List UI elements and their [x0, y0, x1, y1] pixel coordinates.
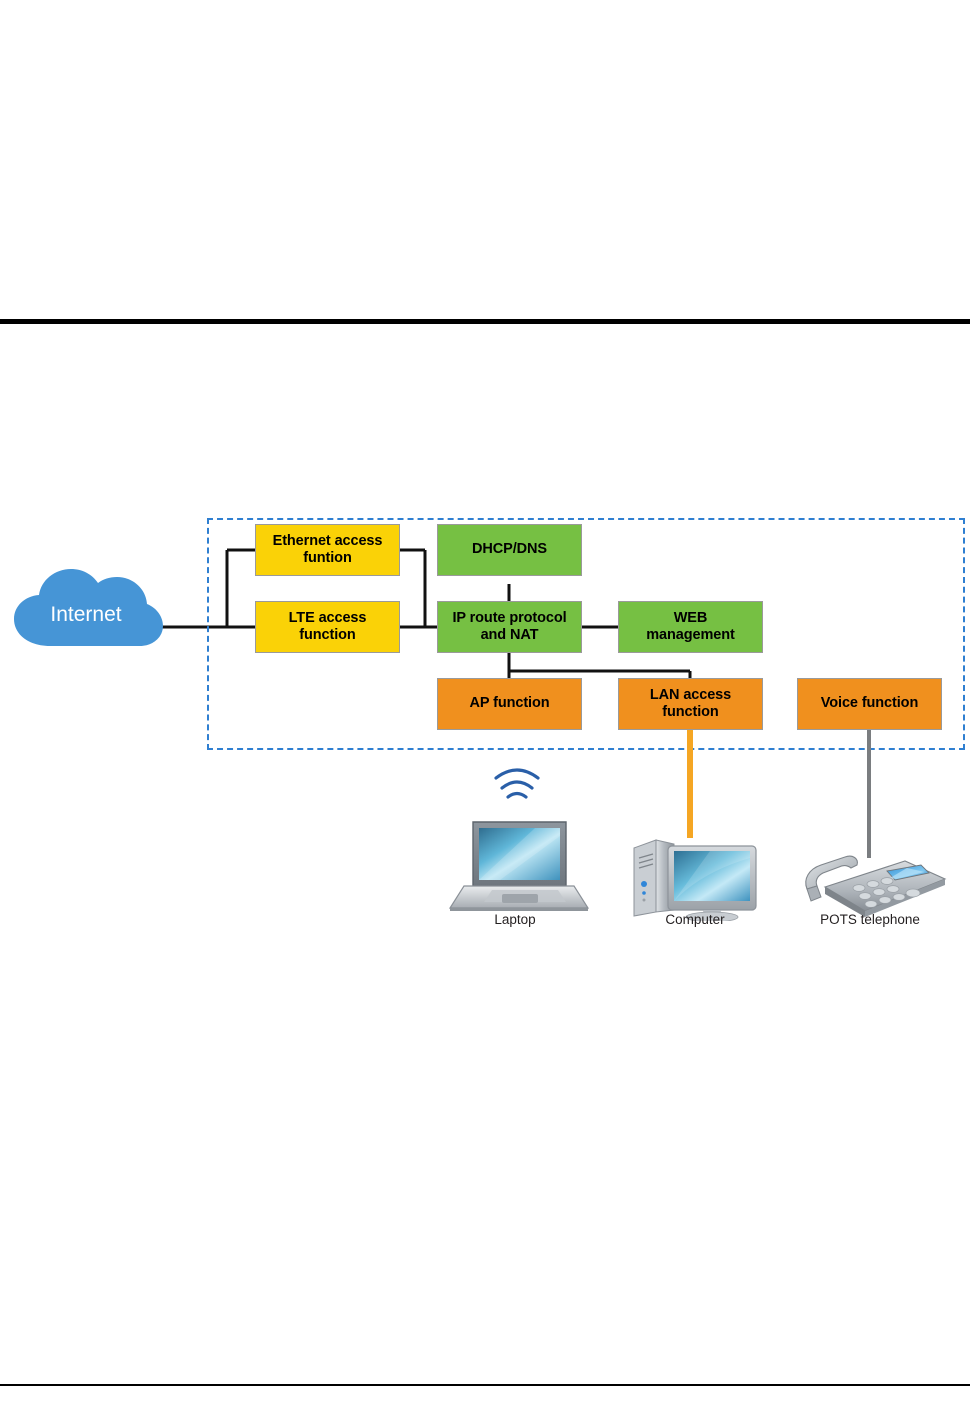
- computer-icon: [620, 816, 770, 921]
- block-web-management[interactable]: WEB management: [618, 601, 763, 653]
- footer-rule: [0, 1384, 970, 1386]
- block-ap-function[interactable]: AP function: [437, 678, 582, 730]
- block-lte-access-label: LTE access function: [289, 610, 367, 644]
- internet-label: Internet: [6, 562, 166, 662]
- header-rule: [0, 319, 970, 324]
- laptop-icon: [440, 810, 590, 920]
- block-voice-function[interactable]: Voice function: [797, 678, 942, 730]
- block-lan-access-label: LAN access function: [650, 687, 731, 721]
- wifi-signal-icon: [487, 756, 547, 816]
- block-voice-function-label: Voice function: [821, 695, 918, 712]
- block-ethernet-access-label: Ethernet access funtion: [273, 533, 383, 567]
- block-lte-access[interactable]: LTE access function: [255, 601, 400, 653]
- laptop-label: Laptop: [415, 912, 615, 927]
- diagram-stage: Internet Ethernet access funtion LTE acc…: [0, 480, 970, 950]
- computer-label: Computer: [595, 912, 795, 927]
- block-dhcp-dns[interactable]: DHCP/DNS: [437, 524, 582, 576]
- pots-telephone-label: POTS telephone: [770, 912, 970, 927]
- block-ethernet-access[interactable]: Ethernet access funtion: [255, 524, 400, 576]
- block-web-management-label: WEB management: [646, 610, 734, 644]
- block-ip-route-nat[interactable]: IP route protocol and NAT: [437, 601, 582, 653]
- block-lan-access[interactable]: LAN access function: [618, 678, 763, 730]
- block-dhcp-dns-label: DHCP/DNS: [472, 541, 547, 558]
- block-ap-function-label: AP function: [470, 695, 550, 712]
- internet-cloud: Internet: [6, 562, 166, 662]
- page-canvas: Internet Ethernet access funtion LTE acc…: [0, 0, 970, 1413]
- block-ip-route-nat-label: IP route protocol and NAT: [452, 610, 566, 644]
